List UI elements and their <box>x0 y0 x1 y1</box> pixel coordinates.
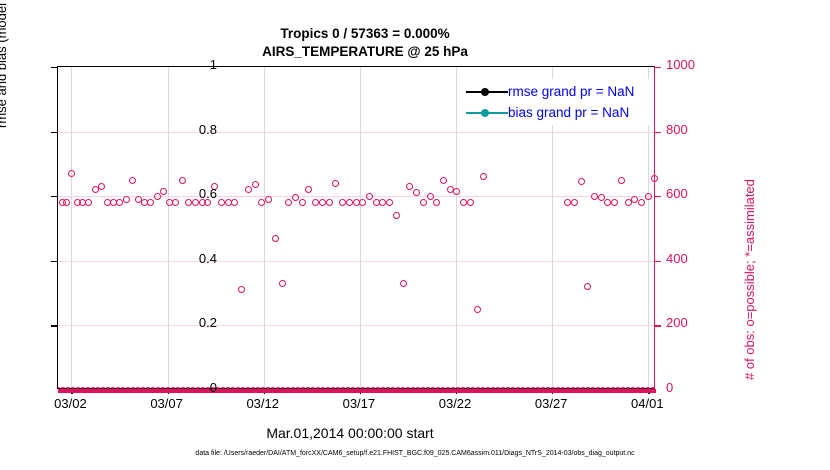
obs-possible-marker <box>564 199 571 206</box>
obs-possible-marker <box>265 196 272 203</box>
obs-possible-marker <box>123 196 130 203</box>
obs-possible-marker <box>406 183 413 190</box>
y-axis-left-tick-label: 0.8 <box>157 122 217 137</box>
horizontal-gridline <box>58 132 654 133</box>
obs-possible-marker <box>578 178 585 185</box>
obs-possible-marker <box>129 177 136 184</box>
obs-possible-marker <box>85 199 92 206</box>
obs-possible-marker <box>618 177 625 184</box>
obs-possible-marker <box>571 199 578 206</box>
y-tick-right <box>654 325 661 326</box>
obs-possible-marker <box>238 286 245 293</box>
assimilated-marker-band: ****************************************… <box>58 387 656 394</box>
obs-possible-marker <box>393 212 400 219</box>
obs-possible-marker <box>638 199 645 206</box>
data-file-footer: data file: /Users/raeder/DAI/ATM_forcXX/… <box>0 450 830 457</box>
obs-possible-marker <box>440 177 447 184</box>
obs-possible-marker <box>651 175 658 182</box>
legend-line-rmse <box>466 86 508 98</box>
obs-possible-marker <box>359 199 366 206</box>
x-axis-tick-label: 03/22 <box>420 396 490 411</box>
obs-possible-marker <box>645 193 652 200</box>
obs-possible-marker <box>332 180 339 187</box>
obs-possible-marker <box>231 199 238 206</box>
obs-possible-marker <box>611 199 618 206</box>
obs-possible-marker <box>427 193 434 200</box>
x-axis-tick-label: 03/12 <box>228 396 298 411</box>
chart-title-line2: AIRS_TEMPERATURE @ 25 hPa <box>0 44 780 59</box>
horizontal-gridline <box>58 325 654 326</box>
obs-possible-marker <box>453 188 460 195</box>
obs-possible-marker <box>98 183 105 190</box>
x-axis-label: Mar.01,2014 00:00:00 start <box>0 425 700 441</box>
obs-possible-marker <box>420 199 427 206</box>
y-tick-left <box>51 132 58 133</box>
obs-possible-marker <box>366 193 373 200</box>
y-axis-left-tick-label: 0.2 <box>157 315 217 330</box>
y-axis-right-tick-label: 1000 <box>666 57 726 72</box>
legend-item: bias grand pr = NaN <box>466 102 652 123</box>
obs-possible-marker <box>116 199 123 206</box>
obs-possible-marker <box>400 280 407 287</box>
chart-figure: Tropics 0 / 57363 = 0.000% AIRS_TEMPERAT… <box>0 0 830 470</box>
y-axis-left-tick-label: 0 <box>157 380 217 395</box>
obs-possible-marker <box>591 193 598 200</box>
y-axis-right-tick-label: 0 <box>666 380 726 395</box>
chart-legend: rmse grand pr = NaN bias grand pr = NaN <box>466 79 652 125</box>
y-tick-right <box>654 261 661 262</box>
y-tick-left <box>51 196 58 197</box>
y-axis-right-label: # of obs: o=possible; *=assimilated <box>742 179 757 380</box>
obs-possible-marker <box>179 177 186 184</box>
y-tick-right <box>654 196 661 197</box>
obs-possible-marker <box>63 199 70 206</box>
x-axis-tick-label: 03/07 <box>132 396 202 411</box>
obs-possible-marker <box>252 181 259 188</box>
y-tick-left <box>51 261 58 262</box>
obs-possible-marker <box>346 199 353 206</box>
obs-possible-marker <box>467 199 474 206</box>
obs-possible-marker <box>245 186 252 193</box>
obs-possible-marker <box>584 283 591 290</box>
y-axis-right-tick-label: 600 <box>666 186 726 201</box>
horizontal-gridline <box>58 196 654 197</box>
y-tick-left <box>51 325 58 326</box>
legend-label-bias: bias grand pr = NaN <box>508 105 629 120</box>
legend-label-rmse: rmse grand pr = NaN <box>508 84 634 99</box>
y-axis-right-tick-label: 400 <box>666 251 726 266</box>
obs-possible-marker <box>480 173 487 180</box>
obs-possible-marker <box>474 306 481 313</box>
y-tick-right <box>654 132 661 133</box>
y-axis-left-tick-label: 0.6 <box>157 186 217 201</box>
x-axis-tick-label: 03/02 <box>35 396 105 411</box>
x-axis-tick-label: 03/17 <box>324 396 394 411</box>
obs-possible-marker <box>285 199 292 206</box>
obs-possible-marker <box>279 280 286 287</box>
obs-possible-marker <box>433 199 440 206</box>
legend-item: rmse grand pr = NaN <box>466 81 652 102</box>
obs-possible-marker <box>218 199 225 206</box>
obs-possible-marker <box>319 199 326 206</box>
obs-possible-marker <box>386 199 393 206</box>
obs-possible-marker <box>68 170 75 177</box>
obs-possible-marker <box>147 199 154 206</box>
legend-line-bias <box>466 107 508 119</box>
obs-possible-marker <box>299 199 306 206</box>
obs-possible-marker <box>292 194 299 201</box>
y-axis-left-label: rmse and bias (model - observation) <box>0 0 9 128</box>
y-axis-right-tick-label: 800 <box>666 122 726 137</box>
chart-title-line1: Tropics 0 / 57363 = 0.000% <box>0 26 780 41</box>
x-axis-tick-label: 04/01 <box>612 396 682 411</box>
horizontal-gridline <box>58 261 654 262</box>
y-tick-right <box>654 67 661 68</box>
vertical-gridline <box>456 67 457 388</box>
y-tick-left <box>51 67 58 68</box>
obs-assimilated-marker: * <box>651 387 656 394</box>
vertical-gridline <box>71 67 72 388</box>
vertical-gridline <box>168 67 169 388</box>
vertical-gridline <box>264 67 265 388</box>
y-axis-left-tick-label: 1 <box>157 57 217 72</box>
obs-possible-marker <box>305 186 312 193</box>
vertical-gridline <box>360 67 361 388</box>
y-axis-right-tick-label: 200 <box>666 315 726 330</box>
x-axis-tick-label: 03/27 <box>516 396 586 411</box>
obs-possible-marker <box>272 235 279 242</box>
y-axis-left-tick-label: 0.4 <box>157 251 217 266</box>
obs-possible-marker <box>326 199 333 206</box>
